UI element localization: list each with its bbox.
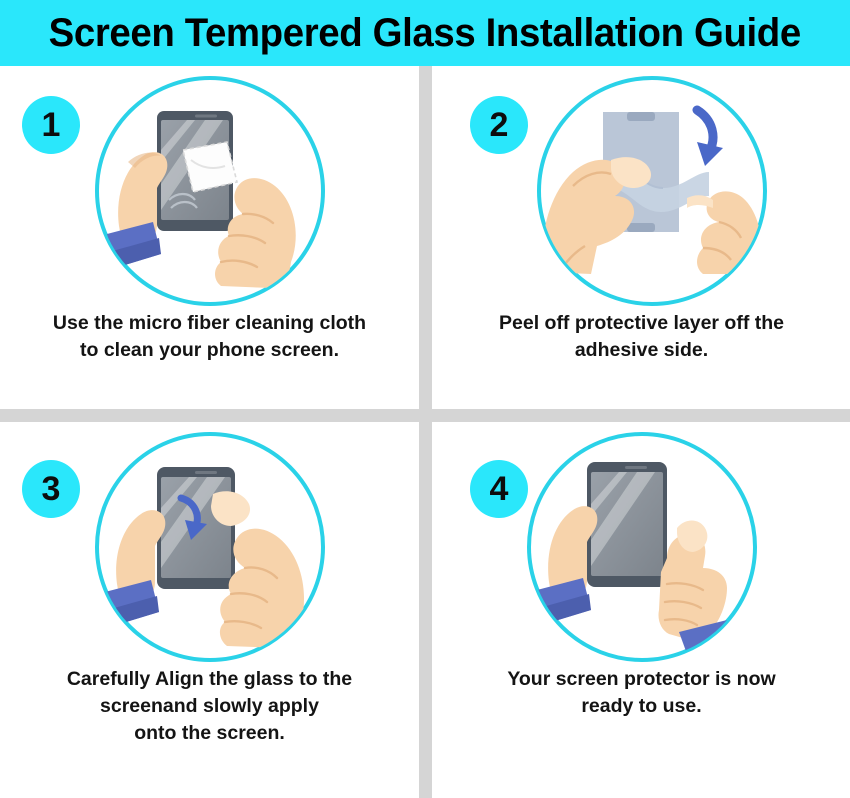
step-number-badge-3: 3 <box>22 460 80 518</box>
installation-guide-infographic: Screen Tempered Glass Installation Guide… <box>0 0 850 798</box>
step-panel-2: 2 <box>432 66 850 409</box>
step-illustration-1 <box>95 76 325 306</box>
caption-line: ready to use. <box>442 693 841 720</box>
caption-line: screenand slowly apply <box>10 693 409 720</box>
phone-cleaning-cloth-icon <box>95 76 325 306</box>
caption-line: adhesive side. <box>442 337 841 364</box>
step-caption-4: Your screen protector is now ready to us… <box>442 666 841 720</box>
caption-line: onto the screen. <box>10 720 409 747</box>
caption-line: Your screen protector is now <box>442 666 841 693</box>
horizontal-divider <box>0 409 850 422</box>
step-illustration-2 <box>537 76 767 306</box>
step-number-badge-1: 1 <box>22 96 80 154</box>
step-caption-1: Use the micro fiber cleaning cloth to cl… <box>10 310 409 364</box>
caption-line: Peel off protective layer off the <box>442 310 841 337</box>
header-banner: Screen Tempered Glass Installation Guide <box>0 0 850 66</box>
step-panel-4: 4 <box>432 422 850 765</box>
step-panel-3: 3 <box>0 422 419 765</box>
caption-line: Use the micro fiber cleaning cloth <box>10 310 409 337</box>
caption-line: Carefully Align the glass to the <box>10 666 409 693</box>
step-illustration-4 <box>527 432 757 662</box>
step-illustration-3 <box>95 432 325 662</box>
step-caption-3: Carefully Align the glass to the screena… <box>10 666 409 747</box>
peel-protective-film-icon <box>537 76 767 306</box>
step-number-badge-2: 2 <box>470 96 528 154</box>
thumbs-up-phone-icon <box>527 432 757 662</box>
caption-line: to clean your phone screen. <box>10 337 409 364</box>
step-number-badge-4: 4 <box>470 460 528 518</box>
step-caption-2: Peel off protective layer off the adhesi… <box>442 310 841 364</box>
step-panel-1: 1 <box>0 66 419 409</box>
vertical-divider <box>419 66 432 798</box>
align-glass-onto-phone-icon <box>95 432 325 662</box>
page-title: Screen Tempered Glass Installation Guide <box>49 12 801 54</box>
